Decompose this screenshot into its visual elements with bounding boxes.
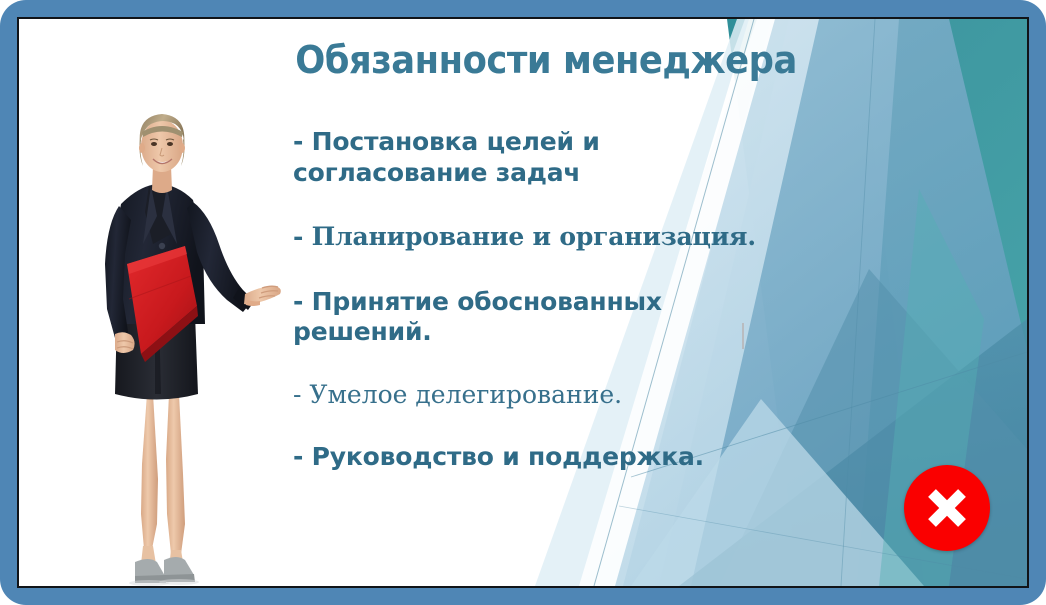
slide-frame: Обязанности менеджера - Постановка целей… xyxy=(0,0,1046,605)
list-item: - Постановка целей и согласование задач xyxy=(293,127,793,188)
list-item: - Умелое делегирование. xyxy=(293,380,793,411)
page-title: Обязанности менеджера xyxy=(295,41,779,81)
list-item: - Принятие обоснованных решений. xyxy=(293,287,793,348)
close-x-icon xyxy=(904,465,990,551)
text-cursor-artifact xyxy=(742,323,744,349)
title-block: Обязанности менеджера xyxy=(277,41,797,81)
close-button[interactable] xyxy=(904,465,990,551)
list-item: - Планирование и организация. xyxy=(293,222,793,253)
slide-canvas: Обязанности менеджера - Постановка целей… xyxy=(19,19,1027,586)
list-item: - Руководство и поддержка. xyxy=(293,442,793,473)
bullet-list: - Постановка целей и согласование задач … xyxy=(293,127,793,473)
businesswoman-presenting-illustration xyxy=(57,94,282,586)
